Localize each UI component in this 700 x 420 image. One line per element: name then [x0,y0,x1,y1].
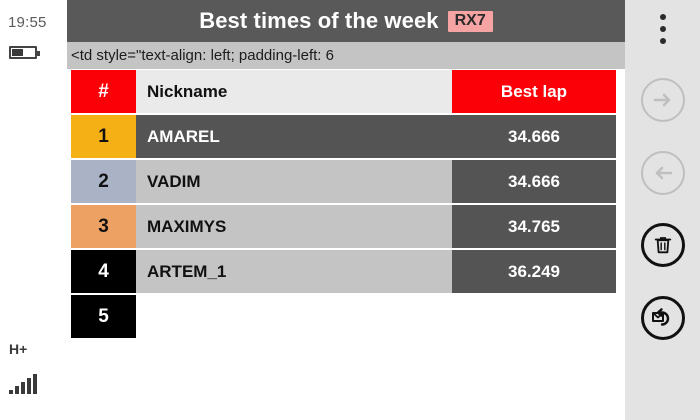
cell-nickname: ARTEM_1 [136,250,452,293]
cell-rank: 3 [71,205,136,248]
signal-bars-icon [9,374,43,394]
code-line-bar: <td style="text-align: left; padding-lef… [67,42,625,69]
cell-rank: 2 [71,160,136,203]
screen: 19:55 H+ Best times of the week RX7 <td … [0,0,700,420]
cell-rank: 5 [71,295,136,338]
cell-nickname: AMAREL [136,115,452,158]
arrow-right-circle-icon[interactable] [641,78,685,122]
three-dots-vertical-icon[interactable] [651,14,675,48]
cell-best-lap: 34.765 [452,205,616,248]
column-header-rank: # [71,70,136,113]
column-header-best-lap: Best lap [452,70,616,113]
cell-nickname: VADIM [136,160,452,203]
cell-best-lap [452,295,616,338]
table-row[interactable]: 3 MAXIMYS 34.765 [71,205,616,248]
navigation-bar [625,0,700,420]
page-title: Best times of the week [199,8,438,34]
cell-best-lap: 34.666 [452,115,616,158]
page-title-bar: Best times of the week RX7 [67,0,625,42]
status-strip: 19:55 H+ [0,0,67,420]
table-row[interactable]: 4 ARTEM_1 36.249 [71,250,616,293]
status-clock: 19:55 [8,14,47,31]
status-badge: RX7 [448,11,493,32]
table-row[interactable]: 2 VADIM 34.666 [71,160,616,203]
cell-rank: 1 [71,115,136,158]
reply-restore-icon[interactable] [641,296,685,340]
table-row[interactable]: 5 [71,295,616,338]
arrow-left-circle-icon[interactable] [641,151,685,195]
best-times-table: # Nickname Best lap 1 AMAREL 34.666 2 VA… [71,70,616,340]
trash-icon[interactable] [641,223,685,267]
column-header-nickname: Nickname [136,70,452,113]
code-line-text: <td style="text-align: left; padding-lef… [67,47,334,64]
cell-rank: 4 [71,250,136,293]
battery-half-icon [9,46,37,59]
cell-best-lap: 36.249 [452,250,616,293]
network-type-label: H+ [9,341,27,357]
content-panel: Best times of the week RX7 <td style="te… [67,0,625,420]
cell-nickname [136,295,452,338]
cell-best-lap: 34.666 [452,160,616,203]
cell-nickname: MAXIMYS [136,205,452,248]
table-row[interactable]: 1 AMAREL 34.666 [71,115,616,158]
table-header-row: # Nickname Best lap [71,70,616,113]
